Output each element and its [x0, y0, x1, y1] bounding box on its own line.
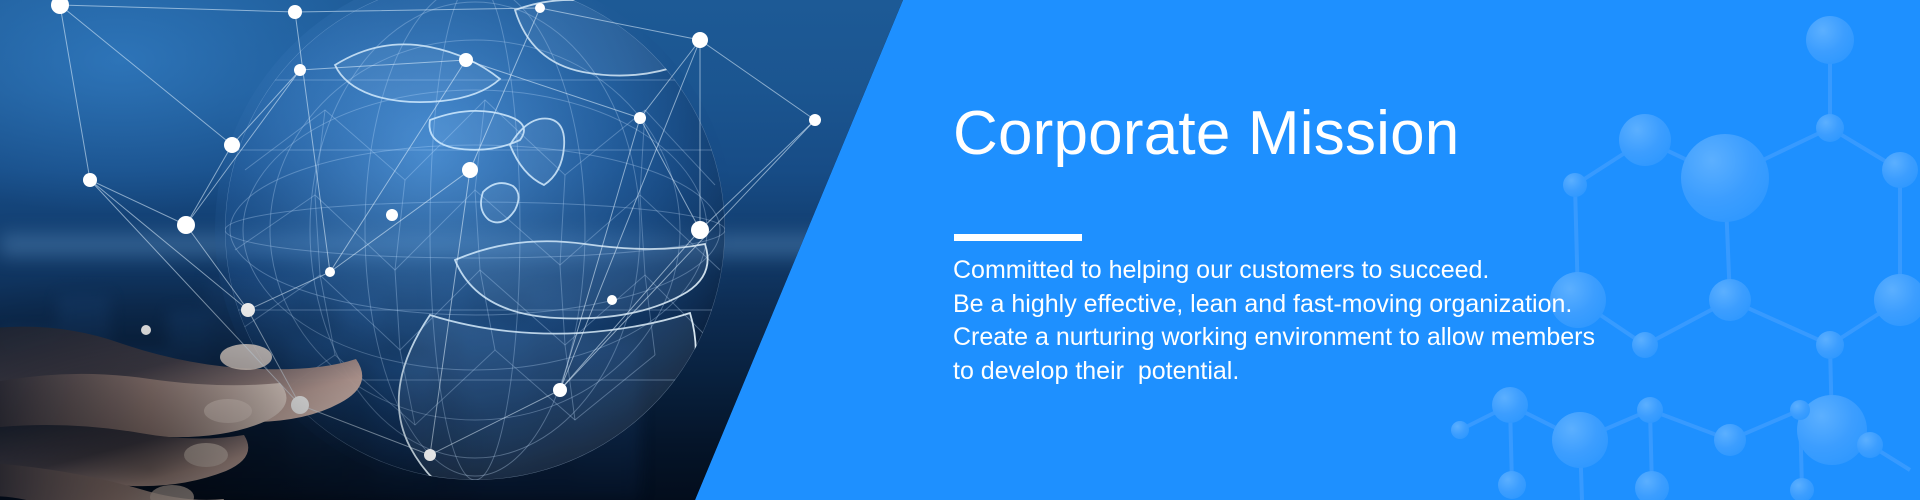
mission-line: to develop their potential.: [953, 355, 1595, 389]
content-block: Corporate Mission Committed to helping o…: [953, 0, 1773, 500]
mission-line: Create a nurturing working environment t…: [953, 321, 1595, 355]
mission-line: Committed to helping our customers to su…: [953, 254, 1595, 288]
mission-line: Be a highly effective, lean and fast-mov…: [953, 288, 1595, 322]
mission-statement: Committed to helping our customers to su…: [953, 254, 1595, 388]
corporate-mission-banner: Corporate Mission Committed to helping o…: [0, 0, 1920, 500]
title-divider: [954, 234, 1082, 241]
page-title: Corporate Mission: [953, 100, 1459, 168]
